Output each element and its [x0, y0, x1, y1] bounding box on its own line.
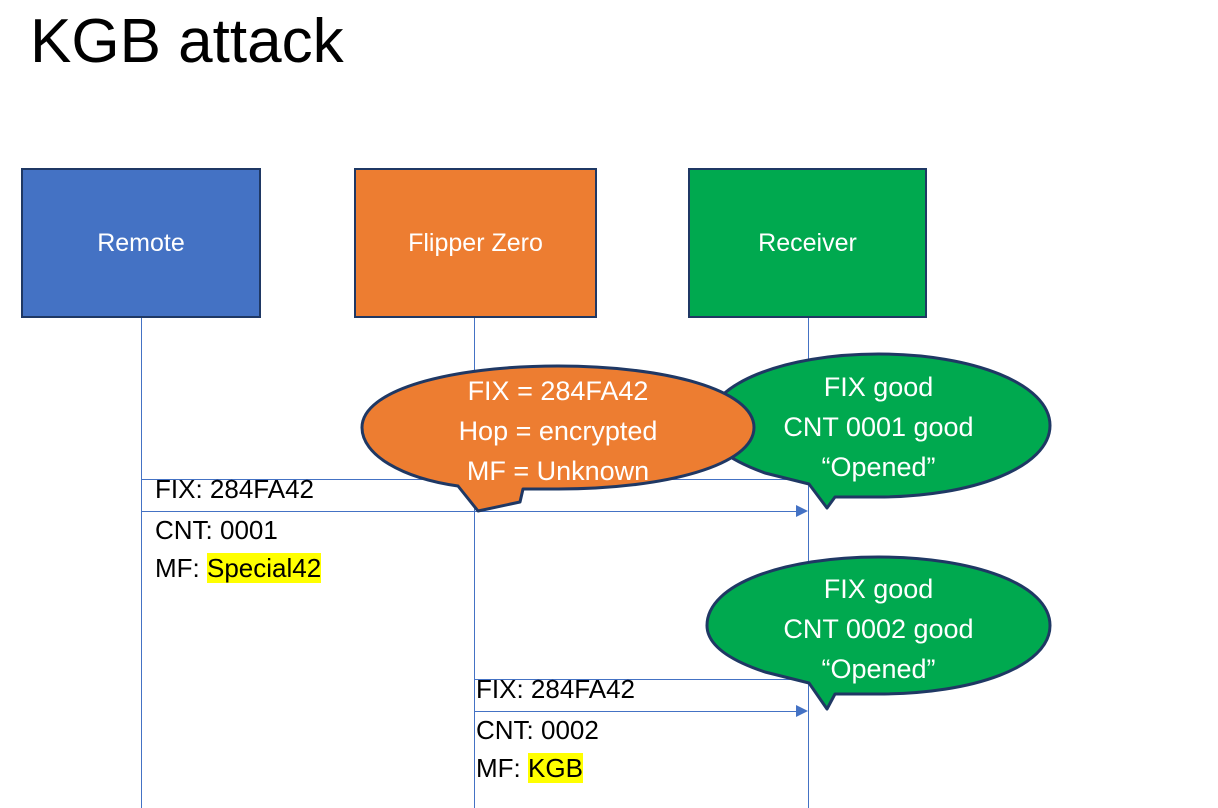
actor-label-remote: Remote: [97, 229, 185, 258]
actor-label-flipper: Flipper Zero: [408, 229, 543, 258]
message-2-label-fix: FIX: 284FA42: [476, 674, 635, 705]
actor-box-remote[interactable]: Remote: [21, 168, 261, 318]
message-2-label-mf: MF: KGB: [476, 753, 583, 784]
flipper-callout-shape: [360, 364, 756, 516]
message-2-mf-value: KGB: [528, 753, 583, 783]
message-1-label-cnt: CNT: 0001: [155, 515, 278, 546]
slide-canvas: KGB attack Remote Flipper Zero Receiver …: [0, 0, 1218, 808]
receiver-callout-1: FIX good CNT 0001 good “Opened”: [705, 352, 1052, 517]
actor-box-receiver[interactable]: Receiver: [688, 168, 927, 318]
message-1-mf-value: Special42: [207, 553, 321, 583]
message-1-mf-prefix: MF:: [155, 553, 207, 583]
message-2-label-cnt: CNT: 0002: [476, 715, 599, 746]
lifeline-remote: [141, 318, 142, 808]
receiver-callout-2-shape: [705, 555, 1052, 717]
receiver-callout-2: FIX good CNT 0002 good “Opened”: [705, 555, 1052, 717]
message-1-label-mf: MF: Special42: [155, 553, 321, 584]
message-2-mf-prefix: MF:: [476, 753, 528, 783]
receiver-callout-1-shape: [705, 352, 1052, 517]
message-1-label-fix: FIX: 284FA42: [155, 474, 314, 505]
flipper-callout: FIX = 284FA42 Hop = encrypted MF = Unkno…: [360, 364, 756, 516]
actor-box-flipper[interactable]: Flipper Zero: [354, 168, 597, 318]
actor-label-receiver: Receiver: [758, 229, 857, 258]
page-title: KGB attack: [30, 6, 344, 77]
